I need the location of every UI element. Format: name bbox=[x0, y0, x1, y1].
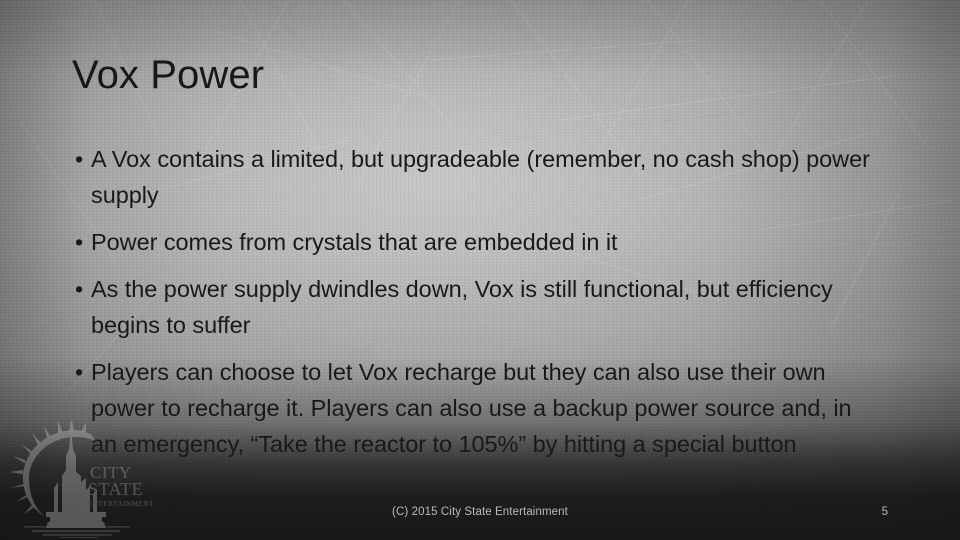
bullet-marker-icon: • bbox=[75, 224, 83, 260]
bullet-marker-icon: • bbox=[75, 141, 83, 177]
bullet-item: • As the power supply dwindles down, Vox… bbox=[72, 271, 884, 343]
footer-copyright: (C) 2015 City State Entertainment bbox=[0, 506, 960, 518]
presentation-slide: Vox Power • A Vox contains a limited, bu… bbox=[0, 0, 960, 540]
bullet-text: A Vox contains a limited, but upgradeabl… bbox=[91, 146, 870, 208]
bullet-item: • Players can choose to let Vox recharge… bbox=[72, 354, 884, 462]
bullet-marker-icon: • bbox=[75, 271, 83, 307]
slide-title: Vox Power bbox=[72, 52, 264, 99]
bullet-marker-icon: • bbox=[75, 354, 83, 390]
bullet-text: Power comes from crystals that are embed… bbox=[91, 229, 618, 255]
slide-body: • A Vox contains a limited, but upgradea… bbox=[72, 141, 884, 462]
bullet-text: Players can choose to let Vox recharge b… bbox=[91, 359, 852, 457]
bullet-text: As the power supply dwindles down, Vox i… bbox=[91, 276, 833, 338]
page-number: 5 bbox=[882, 506, 888, 518]
bullet-item: • A Vox contains a limited, but upgradea… bbox=[72, 141, 884, 213]
bullet-item: • Power comes from crystals that are emb… bbox=[72, 224, 884, 260]
